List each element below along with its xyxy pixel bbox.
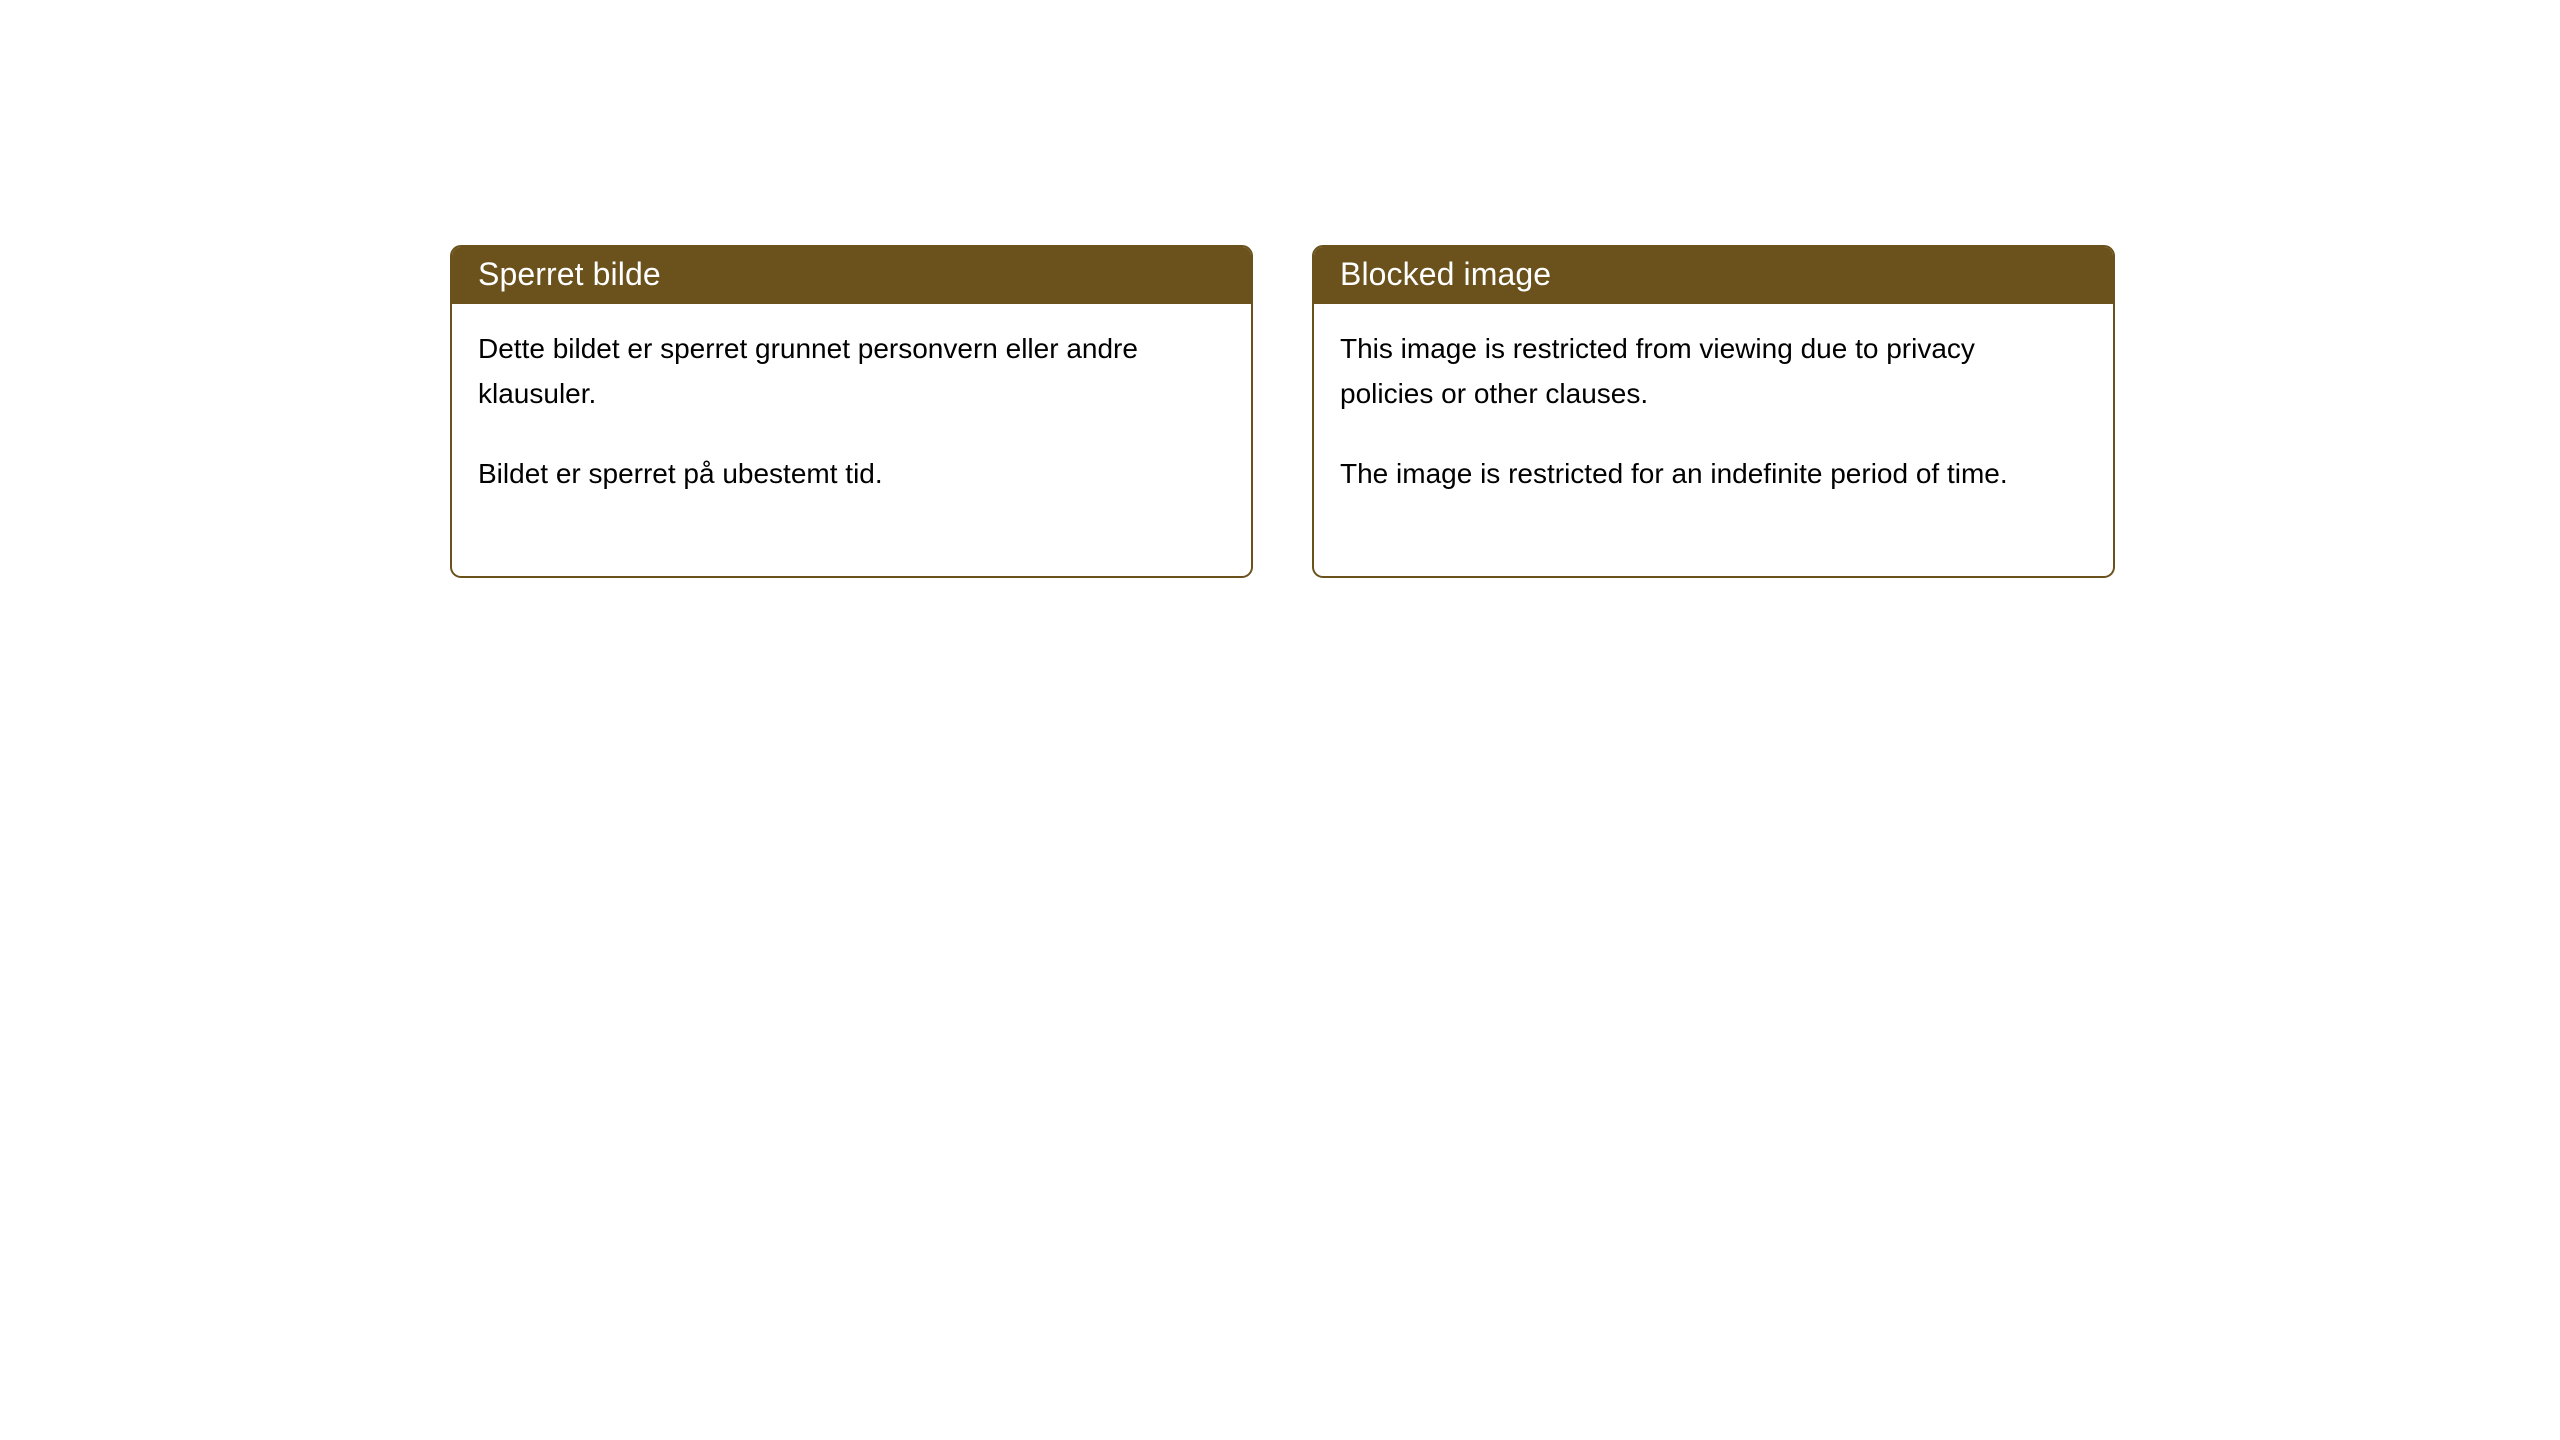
card-paragraph-primary-english: This image is restricted from viewing du… — [1340, 326, 2060, 416]
card-paragraph-primary-norwegian: Dette bildet er sperret grunnet personve… — [478, 326, 1198, 416]
card-header-english: Blocked image — [1314, 247, 2113, 304]
page-canvas: Sperret bilde Dette bildet er sperret gr… — [0, 0, 2560, 1440]
card-body-english: This image is restricted from viewing du… — [1314, 304, 2113, 522]
blocked-image-card-norwegian: Sperret bilde Dette bildet er sperret gr… — [450, 245, 1253, 578]
card-header-norwegian: Sperret bilde — [452, 247, 1251, 304]
card-title-english: Blocked image — [1340, 258, 1551, 293]
card-paragraph-secondary-english: The image is restricted for an indefinit… — [1340, 451, 2060, 496]
card-body-norwegian: Dette bildet er sperret grunnet personve… — [452, 304, 1251, 522]
blocked-image-card-english: Blocked image This image is restricted f… — [1312, 245, 2115, 578]
card-paragraph-secondary-norwegian: Bildet er sperret på ubestemt tid. — [478, 451, 1198, 496]
card-title-norwegian: Sperret bilde — [478, 258, 661, 293]
